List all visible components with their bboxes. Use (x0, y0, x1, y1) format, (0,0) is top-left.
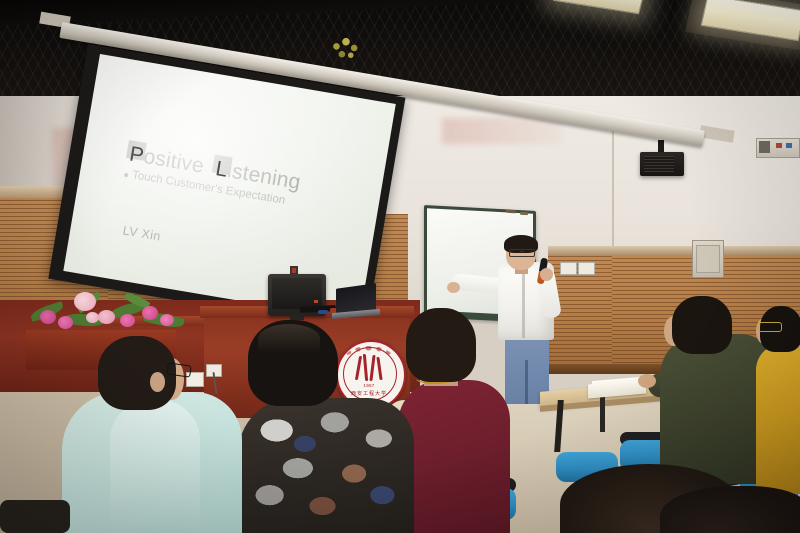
whiteboard-marker-b[interactable] (520, 212, 528, 215)
presenter-glasses-bridge (520, 251, 524, 252)
ceiling-plant-decor (329, 36, 363, 62)
audience-floral-hair-highlight (258, 324, 320, 354)
indicator-blue-icon (786, 143, 792, 148)
desk-cable-blue (318, 310, 328, 314)
audience-mint-shirt-fold (110, 400, 200, 530)
flower-magenta (40, 310, 56, 324)
lecture-hall-photo: Positive Listening Touch Customer's Expe… (0, 0, 800, 533)
audience-yellow-glasses-icon (758, 322, 782, 332)
presenter-shirt-placket (522, 266, 525, 338)
indicator-red-icon (776, 143, 782, 148)
presenter-hand-right (540, 268, 553, 281)
emblem-year: 1957 (354, 383, 384, 388)
wall-stain-mark (442, 118, 562, 144)
monitor-webcam-icon (292, 268, 296, 273)
audience-maroon-vest (398, 380, 510, 533)
flower-light-pink (86, 312, 99, 323)
table-leg-b (600, 392, 605, 432)
audience-floral-shirt (238, 398, 414, 533)
wood-panel-cap-right (548, 246, 800, 255)
audience-olive-head (672, 296, 732, 354)
slide-author-name: LV Xin (122, 223, 162, 243)
audience-mint-ear (150, 372, 165, 392)
whiteboard-marker-a[interactable] (506, 210, 516, 214)
flower-magenta (142, 306, 158, 320)
wall-control-box-switch[interactable] (759, 141, 770, 153)
wall-outlet-a[interactable] (560, 262, 577, 275)
audience-yellow-jacket (756, 344, 800, 494)
flower-arrangement (24, 284, 194, 340)
flower-light-pink (98, 310, 115, 324)
chair-dark-bottom-left[interactable] (0, 500, 70, 533)
monitor-rear-panel (272, 278, 322, 309)
speaker-grill (644, 156, 674, 172)
monitor-power-led-icon (314, 300, 318, 303)
flower-magenta (120, 314, 135, 327)
audience-mint-head (98, 336, 176, 410)
emblem-chinese-name: 西安工程大学 (348, 390, 390, 397)
flower-magenta (160, 314, 174, 326)
flower-pink-rose (74, 292, 96, 311)
audience-maroon-head (406, 308, 476, 382)
wall-access-panel-door[interactable] (696, 245, 720, 273)
slide-bullet-icon (124, 173, 129, 178)
presenter-hand-left (447, 282, 460, 293)
audience-olive-hand (638, 374, 656, 388)
emblem-arc-text (344, 346, 394, 373)
flower-magenta (58, 316, 73, 329)
wall-outlet-b[interactable] (578, 262, 595, 275)
